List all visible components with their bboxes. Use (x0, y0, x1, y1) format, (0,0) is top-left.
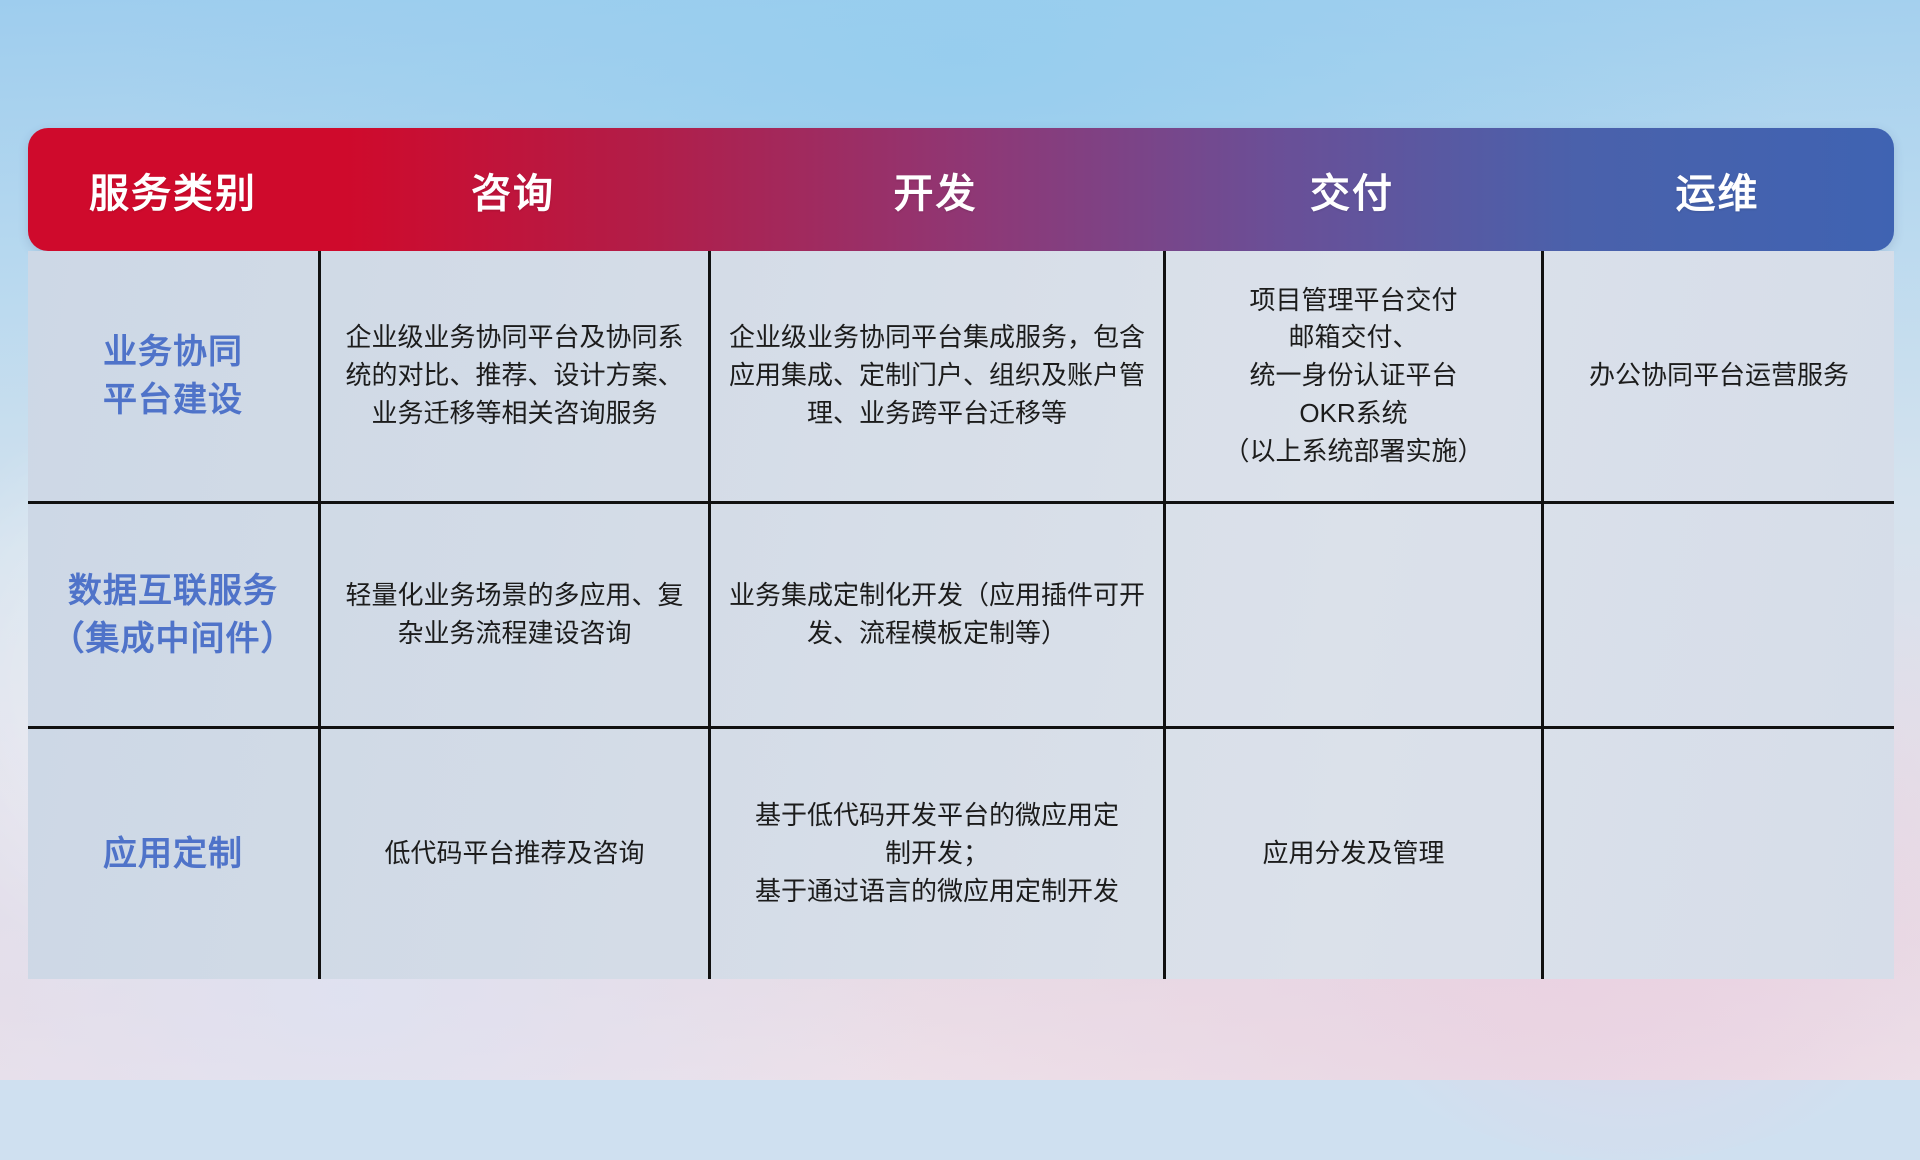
cell-text: 轻量化业务场景的多应用、复杂业务流程建设咨询 (335, 577, 694, 652)
cell-text: 企业级业务协同平台及协同系统的对比、推荐、设计方案、业务迁移等相关咨询服务 (335, 319, 694, 432)
header-cell-operations: 运维 (1541, 128, 1894, 251)
cell-development: 基于低代码开发平台的微应用定 制开发； 基于通过语言的微应用定制开发 (708, 729, 1163, 979)
table-header-row: 服务类别 咨询 开发 交付 运维 (28, 128, 1894, 251)
cell-delivery (1163, 504, 1541, 726)
cell-consulting: 低代码平台推荐及咨询 (318, 729, 708, 979)
cell-consulting: 企业级业务协同平台及协同系统的对比、推荐、设计方案、业务迁移等相关咨询服务 (318, 251, 708, 501)
cell-operations (1541, 504, 1894, 726)
cell-text: 低代码平台推荐及咨询 (384, 835, 644, 873)
header-label-delivery: 交付 (1310, 161, 1394, 219)
row-label: 业务协同 平台建设 (103, 328, 243, 425)
cell-text: 业务集成定制化开发（应用插件可开发、流程模板定制等） (725, 577, 1149, 652)
service-matrix-table: 服务类别 咨询 开发 交付 运维 业务协同 平台建设 企业级业务协同平台及协同系… (28, 128, 1894, 979)
header-cell-development: 开发 (708, 128, 1163, 251)
cell-delivery: 应用分发及管理 (1163, 729, 1541, 979)
header-cell-category: 服务类别 (28, 128, 318, 251)
header-cell-consulting: 咨询 (318, 128, 708, 251)
cell-operations (1541, 729, 1894, 979)
cell-text: 基于低代码开发平台的微应用定 制开发； 基于通过语言的微应用定制开发 (755, 797, 1119, 910)
cell-consulting: 轻量化业务场景的多应用、复杂业务流程建设咨询 (318, 504, 708, 726)
header-label-operations: 运维 (1676, 161, 1760, 219)
table-row: 业务协同 平台建设 企业级业务协同平台及协同系统的对比、推荐、设计方案、业务迁移… (28, 251, 1894, 501)
table-body: 业务协同 平台建设 企业级业务协同平台及协同系统的对比、推荐、设计方案、业务迁移… (28, 251, 1894, 979)
row-label-cell: 业务协同 平台建设 (28, 251, 318, 501)
cell-operations: 办公协同平台运营服务 (1541, 251, 1894, 501)
row-label-cell: 数据互联服务 （集成中间件） (28, 504, 318, 726)
row-label: 数据互联服务 （集成中间件） (51, 567, 296, 664)
cell-text: 办公协同平台运营服务 (1589, 357, 1849, 395)
header-label-development: 开发 (894, 161, 978, 219)
cell-development: 业务集成定制化开发（应用插件可开发、流程模板定制等） (708, 504, 1163, 726)
cell-text: 企业级业务协同平台集成服务，包含应用集成、定制门户、组织及账户管理、业务跨平台迁… (725, 319, 1149, 432)
header-label-consulting: 咨询 (471, 161, 555, 219)
cell-delivery: 项目管理平台交付 邮箱交付、 统一身份认证平台 OKR系统 （以上系统部署实施） (1163, 251, 1541, 501)
table-row: 应用定制 低代码平台推荐及咨询 基于低代码开发平台的微应用定 制开发； 基于通过… (28, 726, 1894, 979)
cell-development: 企业级业务协同平台集成服务，包含应用集成、定制门户、组织及账户管理、业务跨平台迁… (708, 251, 1163, 501)
table-row: 数据互联服务 （集成中间件） 轻量化业务场景的多应用、复杂业务流程建设咨询 业务… (28, 501, 1894, 726)
header-label-category: 服务类别 (89, 161, 257, 219)
cell-text: 项目管理平台交付 邮箱交付、 统一身份认证平台 OKR系统 （以上系统部署实施） (1223, 282, 1483, 470)
row-label: 应用定制 (103, 830, 243, 878)
cell-text: 应用分发及管理 (1262, 835, 1444, 873)
row-label-cell: 应用定制 (28, 729, 318, 979)
header-cell-delivery: 交付 (1163, 128, 1541, 251)
